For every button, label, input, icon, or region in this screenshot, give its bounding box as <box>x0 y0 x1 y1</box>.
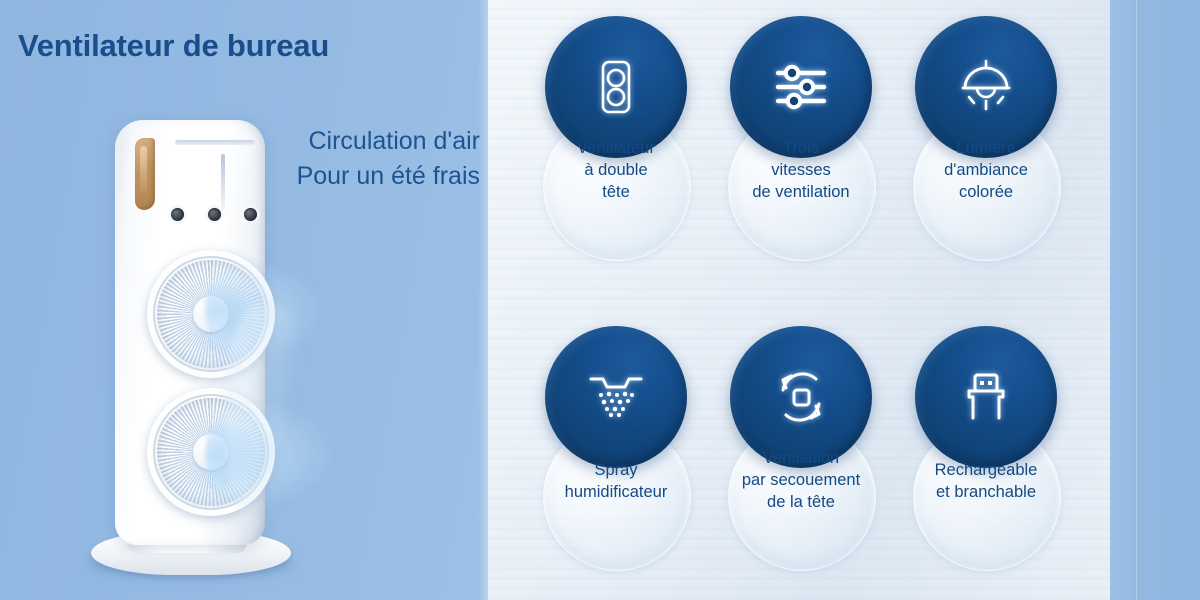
feature-label-line: par secouement <box>728 470 874 492</box>
feature-label-line: Trois <box>728 138 874 160</box>
feature-icon-disc <box>545 326 687 468</box>
right-blue-edge <box>1110 0 1200 600</box>
page-title: Ventilateur de bureau <box>18 28 329 64</box>
product-gold-accent <box>135 138 155 210</box>
feature-item-oscillation[interactable]: Ventilation par secouement de la tête <box>706 320 896 570</box>
feature-label-line: d'ambiance <box>913 160 1059 182</box>
product-side-strip <box>221 154 225 210</box>
mist-spray-icon <box>585 366 647 428</box>
product-image <box>85 108 300 583</box>
feature-label-line: Rechargeable <box>913 460 1059 482</box>
feature-label-line: Spray <box>543 460 689 482</box>
dual-fan-head-icon <box>585 56 647 118</box>
feature-label: Trois vitesses de ventilation <box>728 138 874 204</box>
nozzle <box>171 208 184 221</box>
ambient-lamp-icon <box>955 56 1017 118</box>
product-body <box>115 120 265 545</box>
feature-label-line: vitesses <box>728 160 874 182</box>
hero-panel: Ventilateur de bureau Circulation d'air … <box>0 0 488 600</box>
feature-label-line: de ventilation <box>728 182 874 204</box>
feature-label-line: Ventilation <box>728 448 874 470</box>
feature-label-line: à double <box>543 160 689 182</box>
feature-label-line: de la tête <box>728 492 874 514</box>
upper-fan-head <box>147 250 275 378</box>
feature-label-line: tête <box>543 182 689 204</box>
nozzle <box>208 208 221 221</box>
feature-label-line: colorée <box>913 182 1059 204</box>
lower-fan-head <box>147 388 275 516</box>
feature-panel: Ventilateur à double tête <box>488 0 1110 600</box>
feature-icon-disc <box>545 16 687 158</box>
feature-item-dual-fan-head[interactable]: Ventilateur à double tête <box>521 10 711 260</box>
product-mist-nozzles <box>171 208 257 221</box>
feature-item-ambient-light[interactable]: Lumière d'ambiance colorée <box>891 10 1081 260</box>
feature-label: Lumière d'ambiance colorée <box>913 138 1059 204</box>
fan-hub <box>193 434 229 470</box>
three-speed-sliders-icon <box>770 56 832 118</box>
feature-icon-disc <box>730 16 872 158</box>
feature-label: Rechargeable et branchable <box>913 460 1059 504</box>
product-top-vent <box>175 140 255 145</box>
feature-icon-disc <box>915 326 1057 468</box>
product-infographic: Ventilateur de bureau Circulation d'air … <box>0 0 1200 600</box>
feature-icon-disc <box>915 16 1057 158</box>
feature-item-mist-spray[interactable]: Spray humidificateur <box>521 320 711 570</box>
feature-label-line: Ventilateur <box>543 138 689 160</box>
feature-label: Spray humidificateur <box>543 460 689 504</box>
oscillation-rotate-icon <box>770 366 832 428</box>
feature-label: Ventilateur à double tête <box>543 138 689 204</box>
nozzle <box>244 208 257 221</box>
fan-hub <box>193 296 229 332</box>
feature-item-rechargeable[interactable]: Rechargeable et branchable <box>891 320 1081 570</box>
usb-plug-icon <box>955 366 1017 428</box>
feature-item-three-speeds[interactable]: Trois vitesses de ventilation <box>706 10 896 260</box>
feature-label-line: Lumière <box>913 138 1059 160</box>
feature-grid: Ventilateur à double tête <box>488 0 1110 600</box>
feature-icon-disc <box>730 326 872 468</box>
feature-label: Ventilation par secouement de la tête <box>728 448 874 514</box>
feature-label-line: humidificateur <box>543 482 689 504</box>
feature-label-line: et branchable <box>913 482 1059 504</box>
